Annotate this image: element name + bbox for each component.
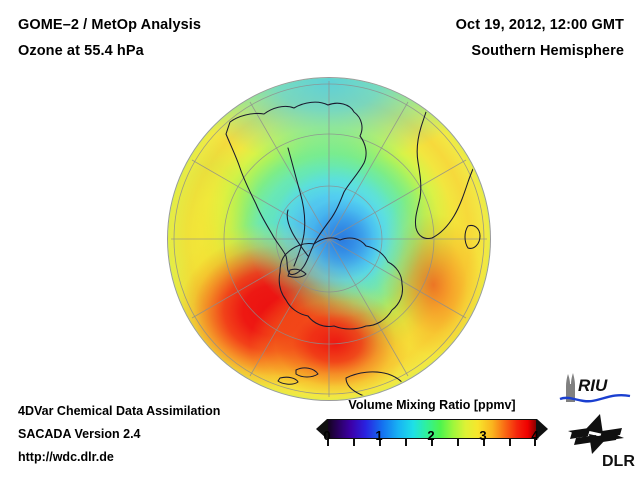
header-left: GOME–2 / MetOp Analysis Ozone at 55.4 hP… (18, 12, 201, 64)
product-title: Ozone at 55.4 hPa (18, 38, 201, 64)
version-label: SACADA Version 2.4 (18, 423, 220, 446)
colorbar-label-4: 4 (531, 428, 538, 443)
dlr-logo: DLR (562, 408, 636, 470)
colorbar-label-0: 0 (323, 428, 330, 443)
coastline-africa (415, 106, 487, 239)
map-overlay (168, 78, 490, 400)
header-right: Oct 19, 2012, 12:00 GMT Southern Hemisph… (456, 12, 624, 64)
colorbar-label-3: 3 (479, 428, 486, 443)
header: GOME–2 / MetOp Analysis Ozone at 55.4 hP… (0, 0, 640, 72)
coastline-madagascar (465, 225, 480, 248)
wdc-url-link[interactable]: http://wdc.dlr.de (18, 446, 220, 469)
coastline-antarctica (279, 238, 402, 329)
instrument-title: GOME–2 / MetOp Analysis (18, 12, 201, 38)
dlr-wordmark: DLR (602, 453, 635, 470)
globe-container (168, 78, 490, 400)
riu-logo: RIU (556, 372, 636, 406)
colorbar-tick-labels: 0 1 2 3 4 (312, 428, 552, 448)
coastline-new-zealand-south (278, 377, 298, 384)
dlr-star-icon (568, 414, 624, 454)
graticule-meridians (171, 81, 487, 397)
region-label: Southern Hemisphere (456, 38, 624, 64)
colorbar-legend: Volume Mixing Ratio [ppmv] 0 1 2 3 4 (312, 398, 552, 468)
ozone-map-page: GOME–2 / MetOp Analysis Ozone at 55.4 hP… (0, 0, 640, 480)
coastline-new-zealand (296, 368, 318, 377)
riu-wordmark: RIU (578, 376, 608, 395)
colorbar-title: Volume Mixing Ratio [ppmv] (312, 398, 552, 412)
colorbar-label-1: 1 (375, 428, 382, 443)
ozone-globe-plot (168, 78, 490, 400)
footer-text: 4DVar Chemical Data Assimilation SACADA … (18, 400, 220, 469)
colorbar-label-2: 2 (427, 428, 434, 443)
datetime-label: Oct 19, 2012, 12:00 GMT (456, 12, 624, 38)
method-label: 4DVar Chemical Data Assimilation (18, 400, 220, 423)
coastline-australia (346, 372, 408, 399)
